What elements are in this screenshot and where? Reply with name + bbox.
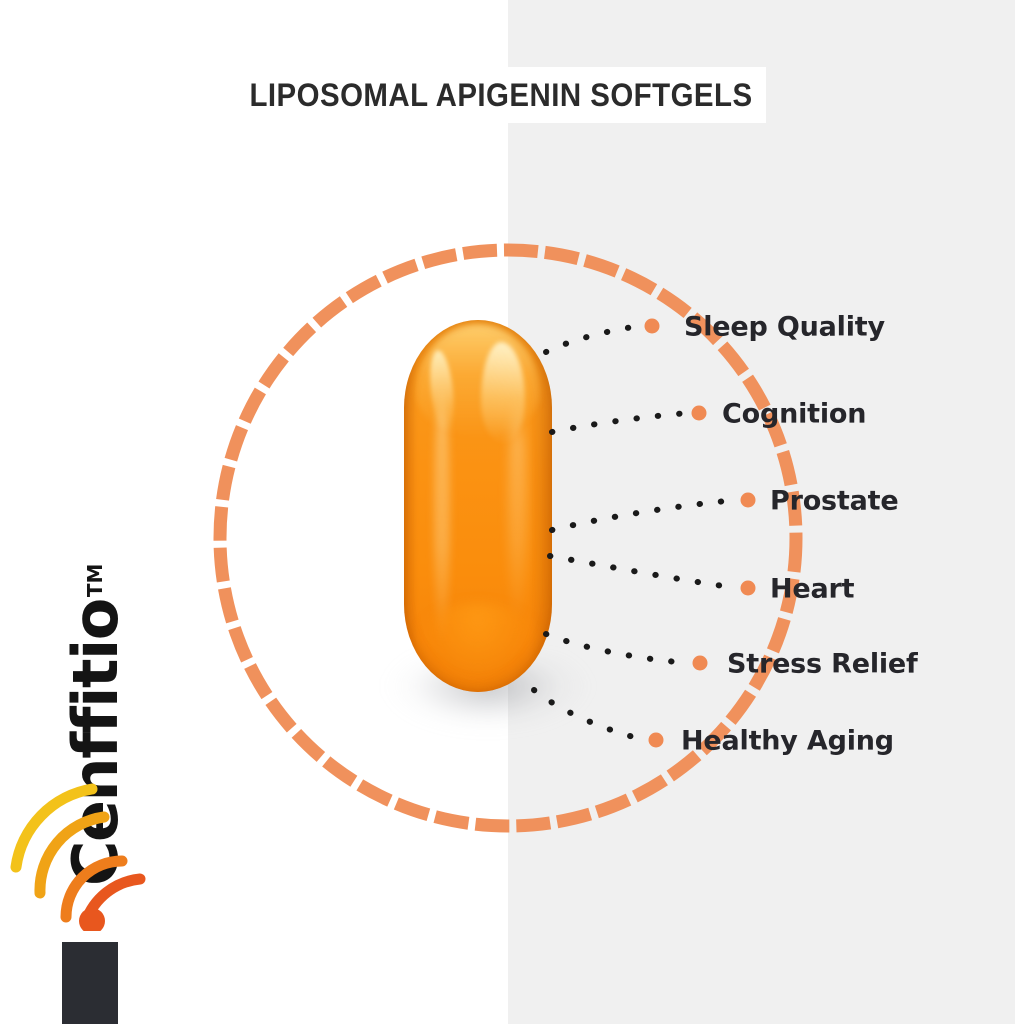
benefit-label: Stress Relief <box>727 649 918 680</box>
background-right-panel <box>508 0 1015 1024</box>
benefit-label: Prostate <box>770 486 898 517</box>
product-infographic: LIPOSOMAL APIGENIN SOFTGELS Sleep Qualit… <box>0 0 1015 1024</box>
benefit-label: Sleep Quality <box>684 312 885 343</box>
benefit-bullet-dot <box>693 656 708 671</box>
benefit-bullet-dot <box>692 406 707 421</box>
benefit-label: Heart <box>770 574 854 605</box>
page-title: LIPOSOMAL APIGENIN SOFTGELS <box>257 67 745 123</box>
benefit-bullet-dot <box>645 319 660 334</box>
capsule-edge-shading <box>404 320 552 692</box>
benefit-label: Healthy Aging <box>681 726 894 757</box>
benefit-label: Cognition <box>722 399 866 430</box>
benefit-bullet-dot <box>649 733 664 748</box>
softgel-capsule <box>404 320 552 692</box>
signal-waves-icon <box>0 771 175 931</box>
brand-logo[interactable]: CenffitioTM <box>0 516 175 926</box>
benefit-bullet-dot <box>741 493 756 508</box>
bottom-accent-bar <box>62 942 118 1024</box>
wave-origin-dot <box>79 908 105 931</box>
trademark-icon: TM <box>83 564 107 598</box>
benefit-bullet-dot <box>741 581 756 596</box>
